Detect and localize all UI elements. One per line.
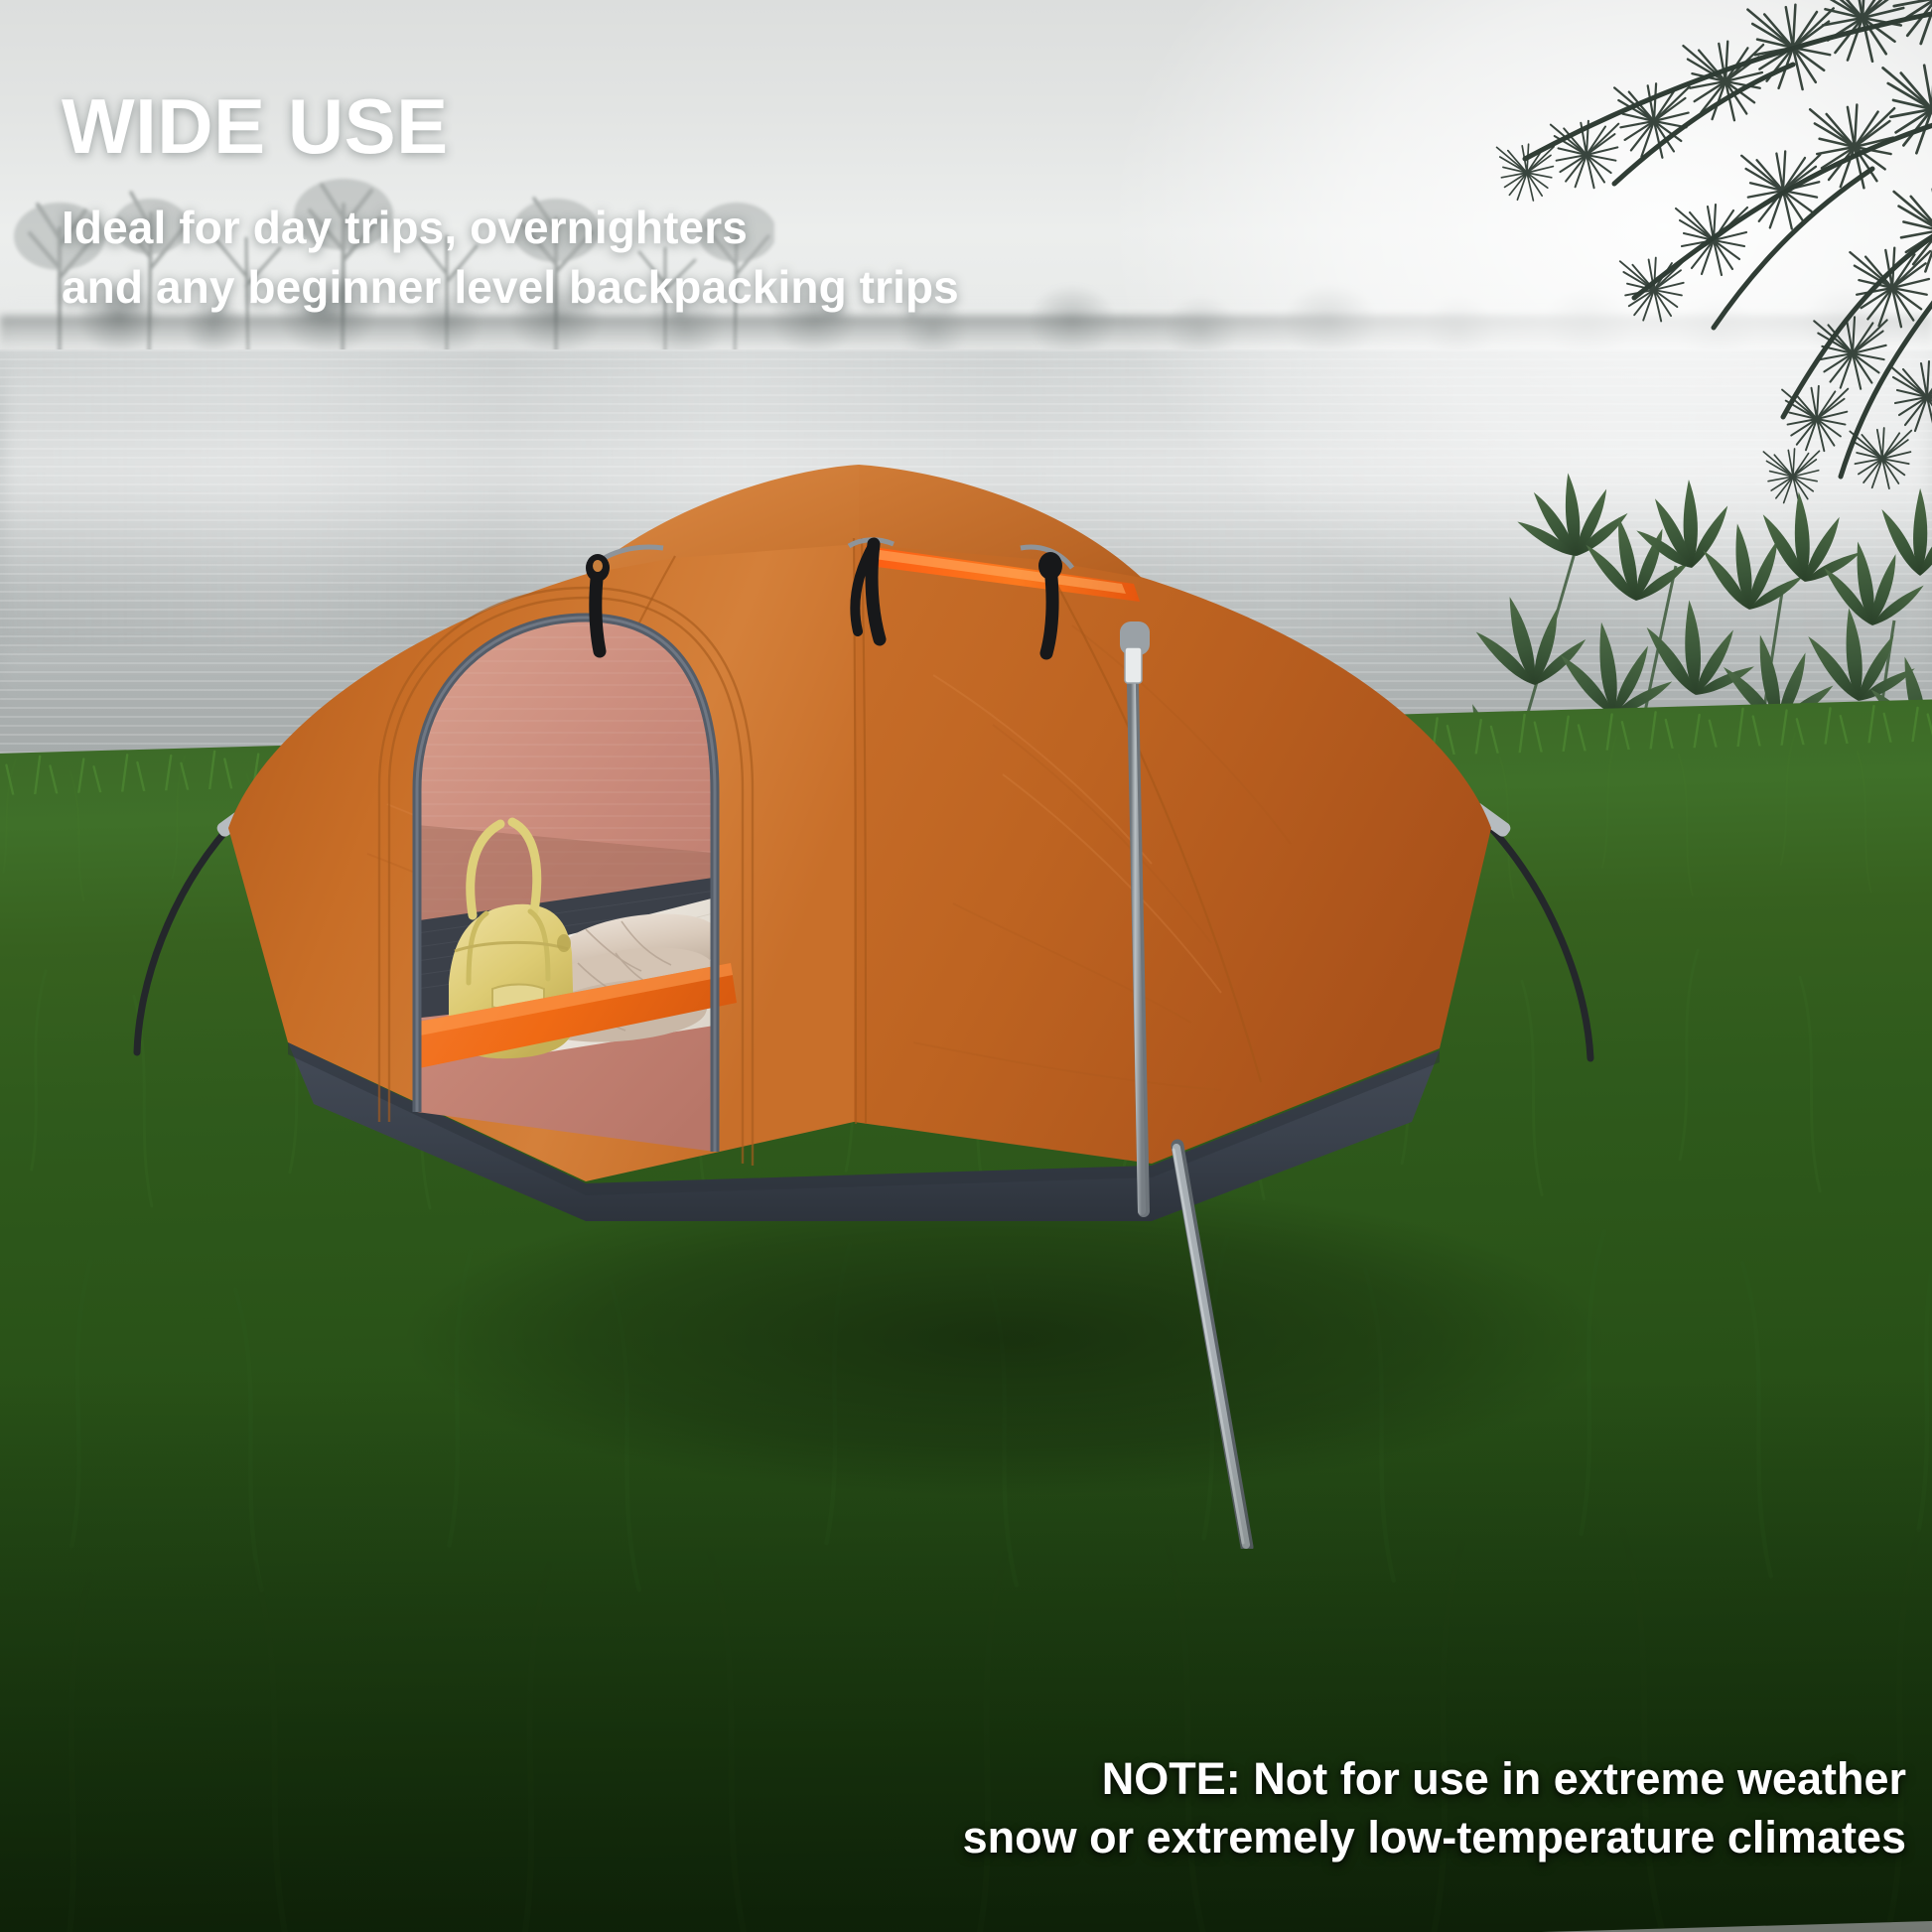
- page-title: WIDE USE: [62, 87, 1233, 165]
- headline-block: WIDE USE Ideal for day trips, overnighte…: [62, 87, 1233, 318]
- note-line-2: snow or extremely low-temperature climat…: [616, 1809, 1906, 1867]
- subheadline: Ideal for day trips, overnighters and an…: [62, 199, 1233, 318]
- note-line-1: NOTE: Not for use in extreme weather: [616, 1750, 1906, 1809]
- product-marketing-image: WIDE USE Ideal for day trips, overnighte…: [0, 0, 1932, 1932]
- foreground-tent-pole: [1052, 1132, 1291, 1549]
- subheadline-line-2: and any beginner level backpacking trips: [62, 258, 1233, 318]
- dome-tent: [119, 427, 1608, 1221]
- note-block: NOTE: Not for use in extreme weather sno…: [616, 1750, 1906, 1866]
- note-label: NOTE:: [1102, 1753, 1241, 1804]
- subheadline-line-1: Ideal for day trips, overnighters: [62, 199, 1233, 258]
- note-line-1-text: Not for use in extreme weather: [1241, 1753, 1906, 1804]
